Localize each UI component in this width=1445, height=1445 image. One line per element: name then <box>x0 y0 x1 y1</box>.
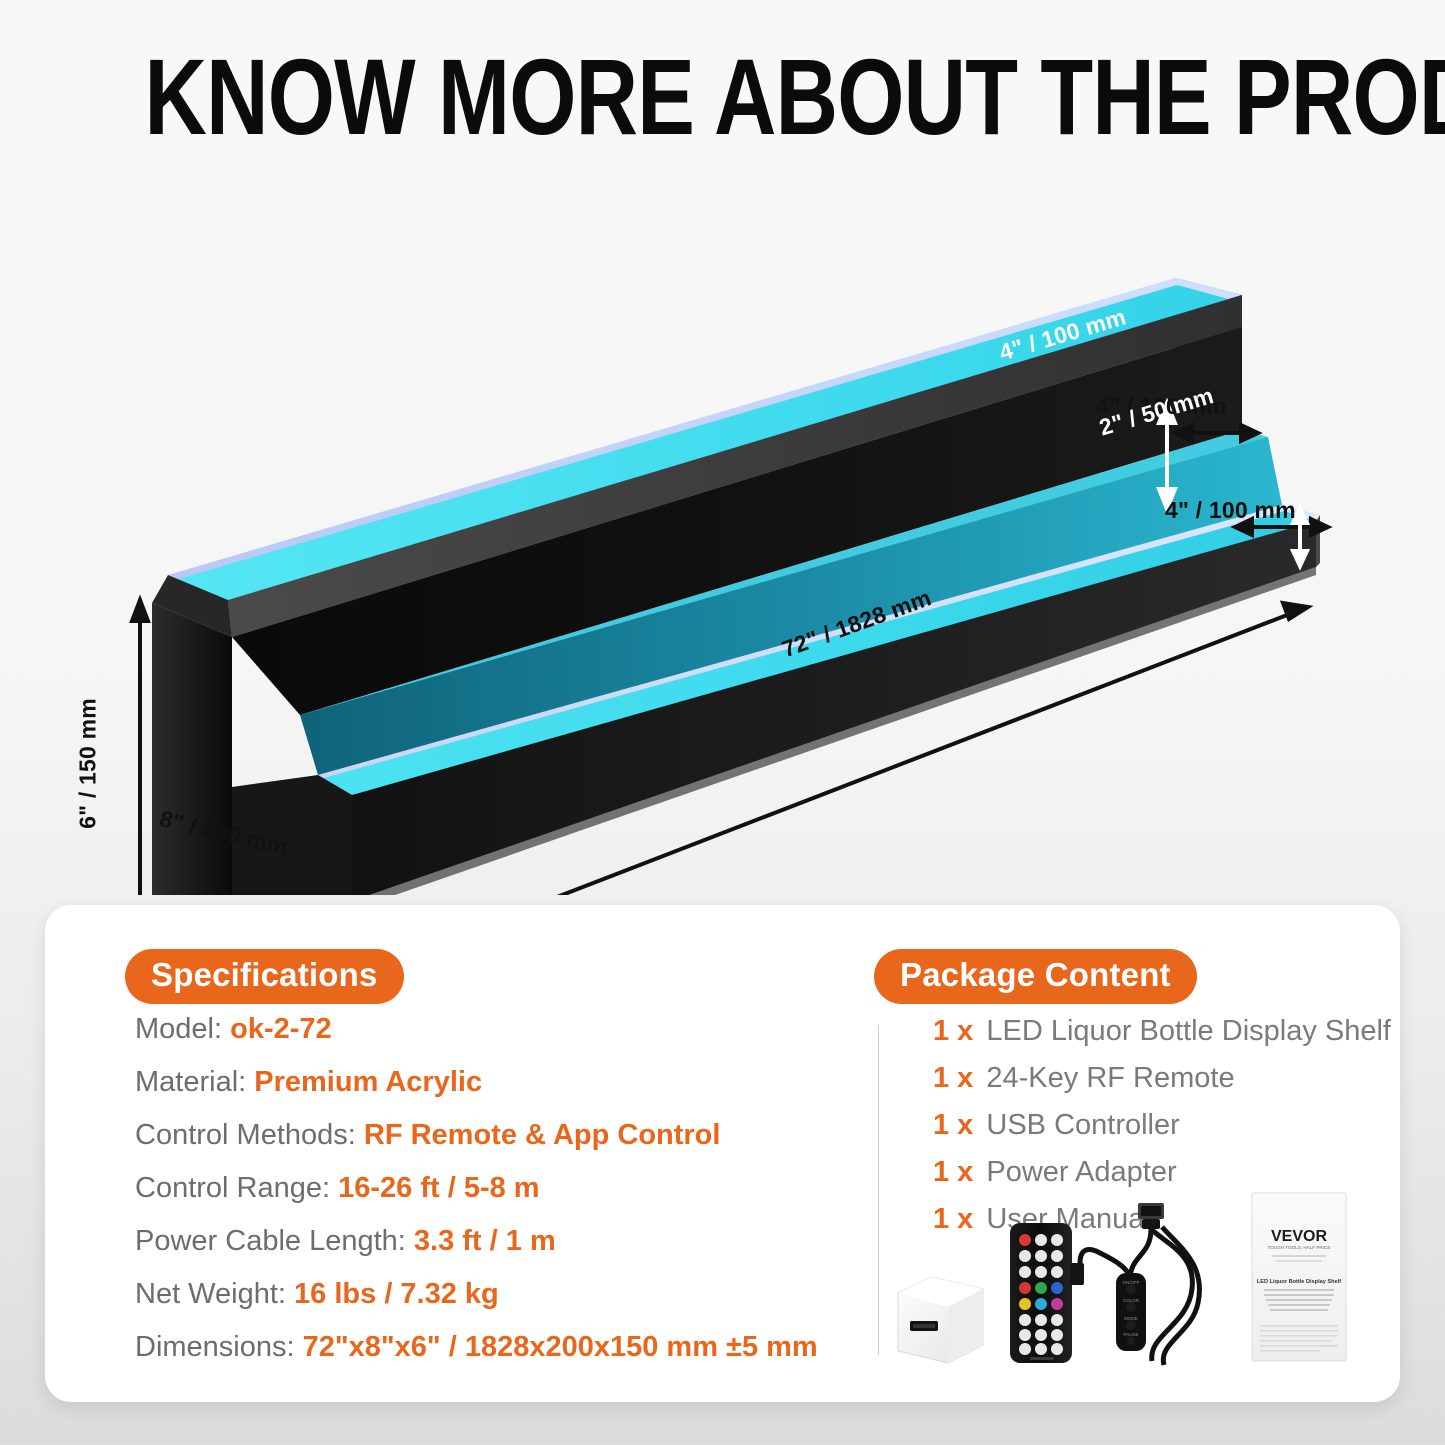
list-item: 1 x LED Liquor Bottle Display Shelf <box>933 1017 1391 1046</box>
spec-label: Power Cable Length: <box>135 1225 406 1257</box>
package-content-heading: Package Content <box>874 949 1197 1004</box>
item-name: Power Adapter <box>986 1156 1176 1188</box>
manual-tagline: TOUGH TOOLS, HALF PRICE <box>1268 1245 1331 1250</box>
item-name: USB Controller <box>986 1109 1179 1141</box>
spec-row: Material: Premium Acrylic <box>135 1068 855 1097</box>
spec-row: Control Range: 16-26 ft / 5-8 m <box>135 1174 855 1203</box>
spec-label: Control Methods: <box>135 1119 356 1151</box>
spec-row: Model: ok-2-72 <box>135 1015 855 1044</box>
page-title: KNOW MORE ABOUT THE PRODUCT <box>145 40 1301 153</box>
spec-row: Dimensions: 72"x8"x6" / 1828x200x150 mm … <box>135 1333 855 1362</box>
spec-value: 72"x8"x6" / 1828x200x150 mm ±5 mm <box>303 1331 818 1363</box>
spec-label: Dimensions: <box>135 1331 295 1363</box>
spec-value: Premium Acrylic <box>254 1066 482 1098</box>
controller-btn-color: COLOR <box>1123 1298 1140 1303</box>
spec-row: Control Methods: RF Remote & App Control <box>135 1121 855 1150</box>
dim-height: 6" / 150 mm <box>75 698 102 829</box>
spec-label: Model: <box>135 1013 222 1045</box>
item-qty: 1 x <box>933 1156 973 1188</box>
specifications-list: Model: ok-2-72 Material: Premium Acrylic… <box>135 1015 855 1386</box>
list-item: 1 x Power Adapter <box>933 1158 1391 1187</box>
controller-btn-onoff: ON/OFF <box>1123 1280 1140 1285</box>
dim-back-height: 4" / 100 mm <box>1165 497 1296 524</box>
spec-row: Net Weight: 16 lbs / 7.32 kg <box>135 1280 855 1309</box>
spec-label: Material: <box>135 1066 246 1098</box>
item-qty: 1 x <box>933 1109 973 1141</box>
spec-row: Power Cable Length: 3.3 ft / 1 m <box>135 1227 855 1256</box>
package-content-photos: ON/OFF COLOR MODE PAUSE VEVOR TOUGH TOOL… <box>880 1185 1380 1390</box>
spec-value: 3.3 ft / 1 m <box>414 1225 556 1257</box>
package-content-pill: Package Content <box>874 949 1197 1004</box>
spec-label: Net Weight: <box>135 1278 286 1310</box>
manual-product-name: LED Liquor Bottle Display Shelf <box>1257 1279 1341 1285</box>
spec-value: RF Remote & App Control <box>364 1119 721 1151</box>
list-item: 1 x USB Controller <box>933 1111 1391 1140</box>
controller-btn-mode: MODE <box>1124 1316 1138 1321</box>
item-name: 24-Key RF Remote <box>986 1062 1234 1094</box>
usb-controller-photo: ON/OFF COLOR MODE PAUSE <box>1070 1203 1199 1365</box>
shelf-3d-drawing <box>0 175 1445 895</box>
spec-value: 16 lbs / 7.32 kg <box>294 1278 499 1310</box>
controller-btn-pause: PAUSE <box>1124 1332 1139 1337</box>
item-name: LED Liquor Bottle Display Shelf <box>986 1015 1391 1047</box>
specifications-heading: Specifications <box>125 949 404 1004</box>
manual-brand: VEVOR <box>1271 1228 1327 1245</box>
item-qty: 1 x <box>933 1015 973 1047</box>
list-item: 1 x 24-Key RF Remote <box>933 1064 1391 1093</box>
spec-value: ok-2-72 <box>230 1013 332 1045</box>
spec-value: 16-26 ft / 5-8 m <box>338 1172 539 1204</box>
product-illustration: 4" / 100 mm 4" / 100 mm 4" / 100 mm 2" /… <box>0 175 1445 895</box>
rf-remote-photo <box>1010 1223 1072 1363</box>
section-divider <box>878 1025 879 1355</box>
specifications-pill: Specifications <box>125 949 404 1004</box>
item-qty: 1 x <box>933 1062 973 1094</box>
user-manual-photo: VEVOR TOUGH TOOLS, HALF PRICE LED Liquor… <box>1252 1193 1346 1361</box>
power-adapter-photo <box>898 1277 983 1363</box>
spec-label: Control Range: <box>135 1172 330 1204</box>
